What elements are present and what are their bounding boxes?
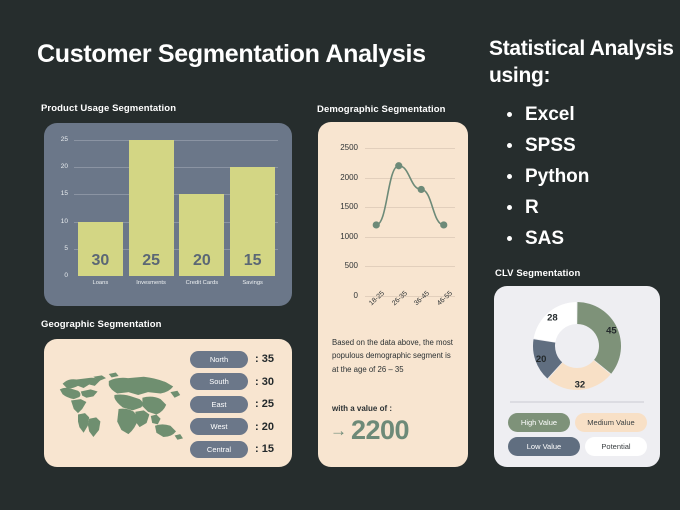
legend-chip-low-value[interactable]: Low Value — [508, 437, 580, 456]
tool-label: SAS — [525, 228, 564, 249]
line-chart: 0500100015002000250018-2526-3536-4546-55 — [318, 130, 468, 320]
bar-category-label: Loans — [71, 280, 129, 286]
list-item: SAS — [505, 224, 680, 255]
line-data-point — [440, 221, 447, 228]
section-heading-clv: CLV Segmentation — [495, 268, 580, 279]
statistical-analysis-title: Statistical Analysis using: — [489, 36, 679, 90]
list-item: SPSS — [505, 131, 680, 162]
section-heading-demographic: Demographic Segmentation — [317, 104, 446, 115]
region-value: : 25 — [255, 398, 274, 410]
bar-column: 25 — [129, 140, 174, 276]
line-series — [318, 130, 468, 320]
bar-value-label: 15 — [244, 253, 262, 276]
geographic-row: West: 20 — [190, 416, 274, 439]
product-usage-panel: 051015202530Loans25Invesments20Credit Ca… — [44, 123, 292, 306]
bullet-icon — [507, 143, 512, 148]
legend-chip-high-value[interactable]: High Value — [508, 413, 570, 432]
region-pill-east[interactable]: East — [190, 396, 248, 413]
bullet-icon — [507, 236, 512, 241]
bar-value-label: 25 — [142, 253, 160, 276]
bar-y-tick: 0 — [54, 272, 68, 279]
geographic-row: South: 30 — [190, 371, 274, 394]
clv-panel: 45322028 High Value Medium Value Low Val… — [494, 286, 660, 467]
bar-chart: 051015202530Loans25Invesments20Credit Ca… — [44, 123, 292, 306]
donut-slice-label: 28 — [547, 313, 558, 324]
bar-y-tick: 5 — [54, 245, 68, 252]
bar-rect: 30 — [78, 222, 123, 276]
tool-label: SPSS — [525, 135, 576, 156]
clv-legend: High Value Medium Value Low Value Potent… — [508, 413, 648, 461]
legend-row: Low Value Potential — [508, 437, 648, 456]
region-pill-west[interactable]: West — [190, 418, 248, 435]
bar-category-label: Invesments — [122, 280, 180, 286]
world-map-icon — [50, 357, 190, 449]
bar-column: 15 — [230, 140, 275, 276]
demographic-value: 2200 — [351, 415, 409, 446]
bar-category-label: Savings — [224, 280, 282, 286]
geographic-rows: North: 35South: 30East: 25West: 20Centra… — [190, 348, 274, 461]
geographic-row: North: 35 — [190, 348, 274, 371]
bar-y-tick: 20 — [54, 163, 68, 170]
donut-slice[interactable] — [577, 302, 621, 374]
list-item: Python — [505, 162, 680, 193]
page-title: Customer Segmentation Analysis — [37, 40, 426, 69]
bar-value-label: 20 — [193, 253, 211, 276]
geographic-row: Central: 15 — [190, 438, 274, 461]
bar-column: 30 — [78, 140, 123, 276]
geographic-panel: North: 35South: 30East: 25West: 20Centra… — [44, 339, 292, 467]
list-item: Excel — [505, 100, 680, 131]
section-heading-geographic: Geographic Segmentation — [41, 319, 162, 330]
legend-chip-medium-value[interactable]: Medium Value — [575, 413, 647, 432]
demographic-panel: 0500100015002000250018-2526-3536-4546-55… — [318, 122, 468, 467]
region-value: : 20 — [255, 421, 274, 433]
geographic-row: East: 25 — [190, 393, 274, 416]
list-item: R — [505, 193, 680, 224]
bar-y-tick: 25 — [54, 136, 68, 143]
bar-rect: 20 — [179, 194, 224, 276]
bar-rect: 15 — [230, 167, 275, 276]
bullet-icon — [507, 205, 512, 210]
line-data-point — [395, 162, 402, 169]
legend-row: High Value Medium Value — [508, 413, 648, 432]
bar-y-tick: 10 — [54, 218, 68, 225]
region-pill-north[interactable]: North — [190, 351, 248, 368]
donut-svg: 45322028 — [531, 300, 623, 392]
region-pill-central[interactable]: Central — [190, 441, 248, 458]
bar-rect: 25 — [129, 140, 174, 276]
legend-chip-potential[interactable]: Potential — [585, 437, 647, 456]
donut-slice-label: 32 — [575, 379, 586, 390]
bullet-icon — [507, 112, 512, 117]
arrow-right-icon: → — [330, 422, 347, 439]
line-data-point — [373, 221, 380, 228]
bar-column: 20 — [179, 140, 224, 276]
region-value: : 30 — [255, 376, 274, 388]
tool-label: Excel — [525, 104, 575, 125]
line-data-point — [418, 186, 425, 193]
demographic-note: Based on the data above, the most populo… — [332, 336, 458, 376]
donut-slice-label: 45 — [606, 325, 617, 336]
region-value: : 15 — [255, 443, 274, 455]
tools-list: Excel SPSS Python R SAS — [505, 100, 680, 255]
section-heading-product: Product Usage Segmentation — [41, 103, 176, 114]
region-value: : 35 — [255, 353, 274, 365]
tool-label: Python — [525, 166, 589, 187]
bullet-icon — [507, 174, 512, 179]
infographic-page: Customer Segmentation Analysis Statistic… — [0, 0, 680, 510]
bar-y-tick: 15 — [54, 190, 68, 197]
region-pill-south[interactable]: South — [190, 373, 248, 390]
donut-slice-label: 20 — [536, 354, 547, 365]
donut-chart: 45322028 — [531, 300, 623, 392]
bar-category-label: Credit Cards — [173, 280, 231, 286]
demographic-subtitle: with a value of : — [332, 404, 392, 413]
bar-value-label: 30 — [91, 253, 109, 276]
tool-label: R — [525, 197, 539, 218]
divider — [510, 401, 644, 403]
